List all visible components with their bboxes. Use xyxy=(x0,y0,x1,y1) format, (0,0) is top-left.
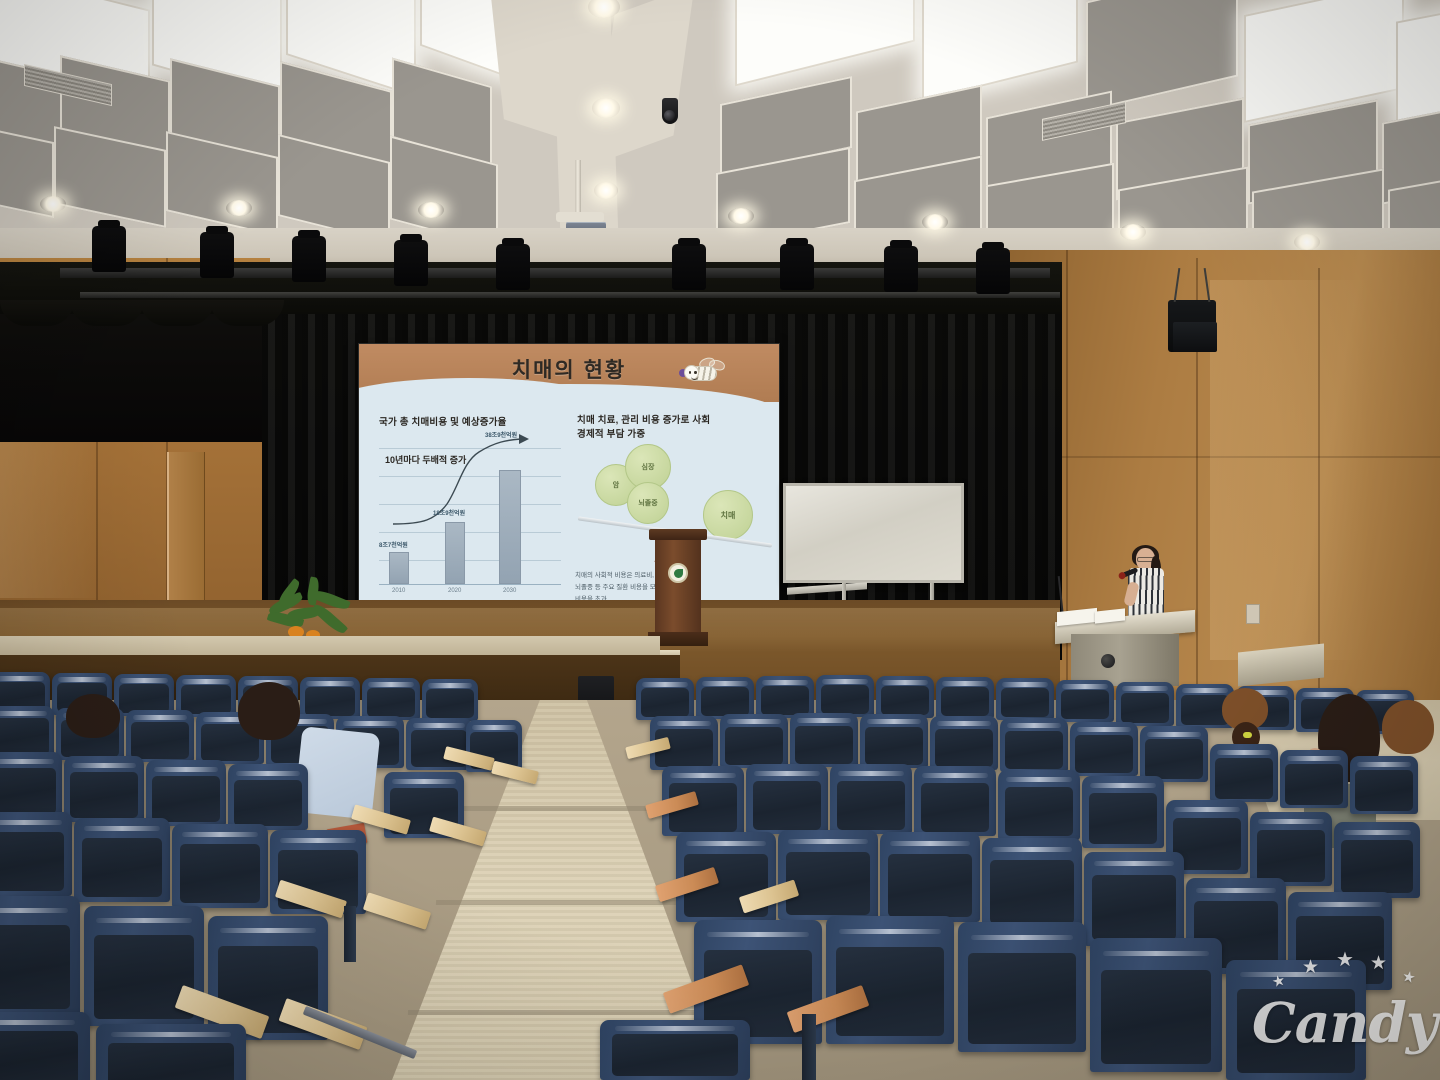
auditorium-seat[interactable] xyxy=(790,713,858,767)
stage-lectern[interactable] xyxy=(652,529,704,647)
auditorium-seat[interactable] xyxy=(756,676,814,718)
auditorium-seat[interactable] xyxy=(0,1012,90,1080)
dementia-blob: 치매 xyxy=(703,490,753,540)
recessed-downlight xyxy=(1120,224,1146,240)
plant-leaf xyxy=(287,606,322,620)
stage-light-fixture xyxy=(672,244,706,290)
hair-tie xyxy=(1243,732,1252,738)
lectern-body xyxy=(655,540,701,632)
podium-body xyxy=(1071,634,1179,686)
presenter-podium[interactable] xyxy=(1055,606,1195,686)
chart-bar xyxy=(389,552,409,584)
ceiling xyxy=(0,0,1440,232)
chart-trend-curve xyxy=(359,344,779,637)
chart-x-tick-label: 2030 xyxy=(503,588,516,594)
slide-content: 치매의 현황 국가 총 치매비용 및 예상증가율 xyxy=(359,344,779,637)
stage-light-fixture xyxy=(884,246,918,292)
auditorium-seat[interactable] xyxy=(1350,756,1418,814)
attendee-head xyxy=(238,682,300,740)
wall-outlet-icon xyxy=(1246,604,1260,624)
auditorium-seat[interactable] xyxy=(1210,744,1278,802)
recessed-downlight xyxy=(592,98,620,118)
auditorium-seat[interactable] xyxy=(1116,682,1174,726)
stage-light-fixture xyxy=(394,240,428,286)
lighting-truss-secondary xyxy=(80,292,1060,298)
armrest-post xyxy=(344,906,356,962)
auditorium-seat[interactable] xyxy=(996,678,1054,720)
auditorium-seat[interactable] xyxy=(778,830,878,920)
aisle-step-edge xyxy=(436,900,688,905)
auditorium-seat[interactable] xyxy=(1084,852,1184,946)
risk-blob-label: 암 xyxy=(613,480,619,490)
attendee-head xyxy=(66,694,120,738)
chart-x-tick-label: 2020 xyxy=(448,588,461,594)
auditorium-seat[interactable] xyxy=(300,677,360,719)
recessed-downlight xyxy=(1294,234,1320,250)
auditorium-seat[interactable] xyxy=(96,1024,246,1080)
chart-bar xyxy=(445,522,465,584)
auditorium-seat[interactable] xyxy=(1070,722,1138,776)
auditorium-seat[interactable] xyxy=(746,764,828,834)
auditorium-seat[interactable] xyxy=(126,710,194,762)
projection-screen: 치매의 현황 국가 총 치매비용 및 예상증가율 xyxy=(358,343,780,638)
podium-control-knob-icon[interactable] xyxy=(1101,654,1115,668)
auditorium-seat[interactable] xyxy=(1000,718,1068,772)
auditorium-seat[interactable] xyxy=(860,714,928,768)
stage-light-fixture xyxy=(780,244,814,290)
auditorium-seat[interactable] xyxy=(636,678,694,720)
auditorium-seat[interactable] xyxy=(1226,960,1366,1080)
auditorium-seat[interactable] xyxy=(1090,938,1222,1072)
chart-x-tick-label: 2010 xyxy=(392,588,405,594)
aisle-step-edge xyxy=(460,806,660,811)
stage-light-fixture xyxy=(292,236,326,282)
chart-value-label: 8조7천억원 xyxy=(379,540,408,549)
auditorium-seat[interactable] xyxy=(600,1020,750,1080)
recessed-downlight xyxy=(226,200,252,216)
auditorium-seat[interactable] xyxy=(936,677,994,719)
recessed-downlight xyxy=(40,196,66,212)
risk-blob-label: 뇌졸중 xyxy=(638,498,657,508)
auditorium-seat[interactable] xyxy=(1334,822,1420,898)
ceiling-light-panel xyxy=(1244,0,1404,123)
recessed-downlight xyxy=(418,202,444,218)
wall-sheen xyxy=(1210,280,1370,660)
recessed-downlight xyxy=(922,214,948,230)
auditorium-seat[interactable] xyxy=(998,770,1080,840)
auditorium-seat[interactable] xyxy=(982,838,1082,930)
stage-light-fixture xyxy=(976,248,1010,294)
auditorium-seat[interactable] xyxy=(958,922,1086,1052)
right-section-heading: 치매 치료, 관리 비용 증가로 사회 경제적 부담 가중 xyxy=(577,414,767,442)
stage-light-fixture xyxy=(92,226,126,272)
auditorium-seat[interactable] xyxy=(1056,680,1114,722)
armrest-post xyxy=(802,1014,816,1080)
auditorium-seat[interactable] xyxy=(914,766,996,836)
recessed-downlight xyxy=(594,182,618,199)
ceiling-light-panel xyxy=(735,0,915,86)
security-camera-icon xyxy=(662,98,678,124)
auditorium-seat[interactable] xyxy=(816,675,874,717)
auditorium-seat[interactable] xyxy=(422,679,478,721)
auditorium-seat[interactable] xyxy=(930,716,998,770)
projector-mount-pole xyxy=(575,160,581,216)
auditorium-seat[interactable] xyxy=(172,824,268,908)
wall-speaker-lower xyxy=(1173,322,1217,352)
auditorium-seat[interactable] xyxy=(876,676,934,718)
screenshot-root: 1:48 4:20 치매의 현황 xyxy=(0,0,1440,1080)
lectern-emblem-icon xyxy=(668,563,688,583)
chart-value-label: 18조9천억원 xyxy=(433,508,465,517)
projector-yoke xyxy=(556,212,604,222)
auditorium-seat[interactable] xyxy=(1140,726,1208,782)
mobile-whiteboard[interactable] xyxy=(783,483,964,583)
auditorium-seat[interactable] xyxy=(0,896,80,1016)
auditorium-seat[interactable] xyxy=(826,916,954,1044)
auditorium-seat[interactable] xyxy=(362,678,420,720)
auditorium-seat[interactable] xyxy=(720,714,788,768)
auditorium-seat[interactable] xyxy=(146,760,226,826)
risk-blob-label: 심장 xyxy=(642,462,655,472)
auditorium-seat[interactable] xyxy=(0,752,62,818)
auditorium-seat[interactable] xyxy=(696,677,754,719)
ceiling-light-panel xyxy=(922,0,1078,101)
lectern-top xyxy=(649,529,707,540)
auditorium-seat[interactable] xyxy=(74,818,170,902)
chart-value-label: 38조9천억원 xyxy=(485,430,517,439)
auditorium-seat[interactable] xyxy=(880,832,980,922)
risk-blob: 뇌졸중 xyxy=(627,482,669,524)
stage-light-fixture xyxy=(200,232,234,278)
attendee-head xyxy=(1382,700,1434,754)
auditorium-seat[interactable] xyxy=(1082,776,1164,848)
dementia-blob-label: 치매 xyxy=(721,510,736,521)
auditorium-seat[interactable] xyxy=(64,756,144,822)
recessed-downlight xyxy=(728,208,754,224)
auditorium-seat[interactable] xyxy=(1280,750,1348,808)
auditorium-seat[interactable] xyxy=(0,706,54,758)
auditorium-seat[interactable] xyxy=(1250,812,1332,886)
stage-light-fixture xyxy=(496,244,530,290)
auditorium-seat[interactable] xyxy=(0,812,72,896)
auditorium-seat[interactable] xyxy=(228,764,308,830)
chart-bar xyxy=(499,470,521,584)
auditorium-seat[interactable] xyxy=(830,764,912,834)
